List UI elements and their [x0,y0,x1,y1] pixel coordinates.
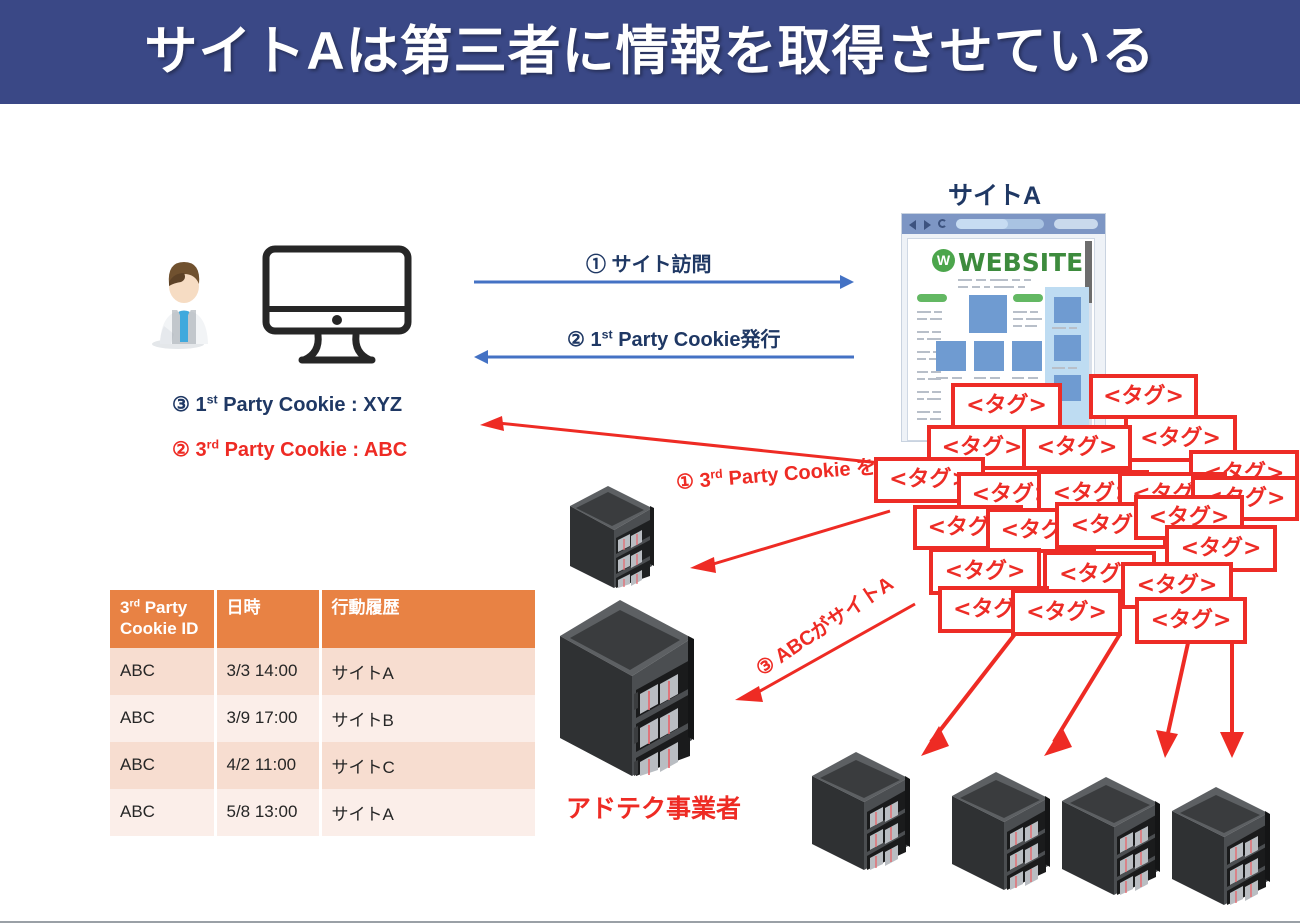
placeholder-line [1052,327,1066,329]
server-rack-small-1 [568,484,654,588]
table-cell-history: サイトB [320,695,535,742]
user-avatar-icon [152,252,216,350]
placeholder-line [1028,377,1038,379]
placeholder-line [927,398,941,400]
flow-arrow-2-sup: st [602,327,613,341]
table-cell-cookie-id: ABC [110,648,215,695]
table-cell-cookie-id: ABC [110,789,215,836]
server-rack-bottom-1 [810,750,910,870]
cookie-1st-pre: 1 [190,394,207,416]
back-arrow-icon [909,220,916,230]
annotation-1-num: ① [675,471,695,494]
annotation-1-pre: 3 [693,469,711,492]
annotation-1-sup: rd [710,467,723,482]
table-cell-cookie-id: ABC [110,742,215,789]
placeholder-line [917,371,928,373]
table-cell-history: サイトA [320,789,535,836]
placeholder-line [958,279,972,281]
table-cell-datetime: 4/2 11:00 [215,742,320,789]
reload-icon [938,219,947,228]
desktop-monitor-icon [262,245,412,365]
placeholder-line [990,377,1000,379]
placeholder-line [952,377,962,379]
server-rack-large-adtech [558,598,694,776]
search-box [1054,219,1098,229]
table-header-cookie-id: 3rd Party Cookie ID [110,590,215,648]
content-block [1054,297,1081,323]
placeholder-line [994,286,1014,288]
placeholder-line [1012,279,1020,281]
placeholder-line [930,318,942,320]
cookie-history-table: 3rd Party Cookie ID 日時 行動履歴 ABC3/3 14:00… [110,590,535,836]
cookie-1st-num: ③ [172,394,190,416]
placeholder-line [1013,318,1023,320]
placeholder-line [1013,325,1022,327]
placeholder-line [917,418,927,420]
placeholder-line [1052,367,1065,369]
cookie-3rd-sup: rd [207,437,219,451]
content-block [1012,341,1042,371]
placeholder-line [917,378,925,380]
table-row: ABC3/9 17:00サイトB [110,695,535,742]
red-arrow-down-4 [1212,630,1252,760]
header-col1-post: Party [140,598,187,617]
placeholder-line [990,279,1008,281]
cookie-1st-post: Party Cookie : XYZ [218,394,403,416]
header-col1-line2: Cookie ID [120,619,198,638]
green-blob [1013,294,1043,302]
table-cell-datetime: 3/9 17:00 [215,695,320,742]
table-cell-datetime: 3/3 14:00 [215,648,320,695]
placeholder-line [1025,325,1037,327]
content-block [974,341,1004,371]
url-bar-fill [956,219,1008,229]
placeholder-line [927,338,941,340]
adtech-company-label: アドテク事業者 [566,789,741,825]
green-blob [917,294,947,302]
placeholder-line [933,411,941,413]
cookie-1st-sup: st [207,392,218,406]
red-arrow-down-3 [1140,630,1210,760]
tag-box: <タグ> [1089,374,1198,419]
placeholder-line [1012,377,1024,379]
placeholder-line [976,279,986,281]
annotation-1-post: Party Cookie を [722,456,877,490]
placeholder-line [932,391,941,393]
placeholder-line [984,286,990,288]
table-header-history: 行動履歴 [320,590,535,648]
placeholder-line [917,331,929,333]
placeholder-line [917,398,924,400]
title-banner: サイトAは第三者に情報を取得させている [0,0,1300,104]
page-title: サイトAは第三者に情報を取得させている [0,10,1300,94]
placeholder-line [958,286,968,288]
table-row: ABC5/8 13:00サイトA [110,789,535,836]
placeholder-line [917,358,926,360]
placeholder-line [917,351,930,353]
placeholder-line [1018,286,1025,288]
placeholder-line [1026,318,1042,320]
table-cell-history: サイトA [320,648,535,695]
content-block [936,341,966,371]
table-row: ABC3/3 14:00サイトA [110,648,535,695]
table-body: ABC3/3 14:00サイトAABC3/9 17:00サイトBABC4/2 1… [110,648,535,836]
placeholder-line [917,318,927,320]
placeholder-line [917,391,929,393]
tag-box: <タグ> [1011,589,1122,636]
placeholder-line [934,311,942,313]
tag-box: <タグ> [951,383,1062,429]
tag-box: <タグ> [1135,597,1247,644]
placeholder-line [917,411,930,413]
red-arrow-down-1 [905,630,1025,760]
url-bar [956,219,1044,229]
forward-arrow-icon [924,220,931,230]
browser-toolbar [902,214,1106,234]
table-cell-datetime: 5/8 13:00 [215,789,320,836]
table-cell-history: サイトC [320,742,535,789]
website-logo-badge: W [932,249,955,272]
table-row: ABC4/2 11:00サイトC [110,742,535,789]
red-arrow-down-2 [1030,630,1130,760]
placeholder-line [1030,311,1038,313]
first-party-cookie-label: ③ 1st Party Cookie : XYZ [172,392,402,417]
placeholder-line [974,377,986,379]
placeholder-line [1068,367,1077,369]
placeholder-line [931,371,941,373]
tag-box: <タグ> [1022,425,1132,470]
content-block [969,295,1007,333]
server-rack-bottom-3 [1060,775,1160,895]
server-rack-bottom-2 [950,770,1050,890]
slide-canvas: サイトAは第三者に情報を取得させている サイトA W WEBSITE [0,0,1300,923]
third-party-cookie-label: ② 3rd Party Cookie : ABC [172,437,407,462]
site-a-label: サイトA [948,176,1041,212]
placeholder-line [1024,279,1031,281]
content-block [1054,335,1081,361]
table-header-row: 3rd Party Cookie ID 日時 行動履歴 [110,590,535,648]
placeholder-line [972,286,980,288]
server-rack-bottom-4 [1170,785,1270,905]
red-arrow-to-small-server [690,505,890,575]
cookie-3rd-num: ② [172,439,190,461]
cookie-3rd-post: Party Cookie : ABC [219,439,407,461]
table-cell-cookie-id: ABC [110,695,215,742]
cookie-3rd-pre: 3 [190,439,207,461]
placeholder-line [1013,311,1027,313]
placeholder-line [917,311,931,313]
website-logo-text: WEBSITE [958,248,1083,277]
placeholder-line [917,338,924,340]
placeholder-line [930,418,941,420]
header-col1-sup: rd [129,597,140,609]
placeholder-line [932,331,941,333]
table-header-datetime: 日時 [215,590,320,648]
placeholder-line [1069,327,1077,329]
placeholder-line [936,377,948,379]
